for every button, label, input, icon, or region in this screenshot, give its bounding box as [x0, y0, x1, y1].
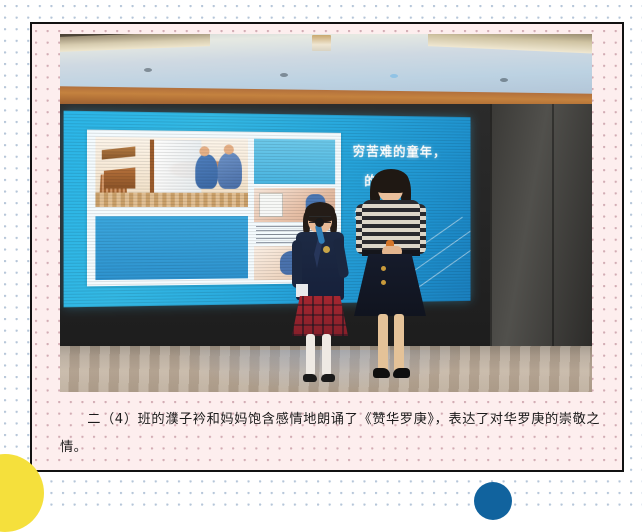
- slide-blue-block-top: [254, 139, 335, 184]
- caption-text: 二（4）班的濮子衿和妈妈饱含感情地朗诵了《赞华罗庚》，表达了对华罗庚的崇敬之情。: [60, 412, 600, 455]
- right-leg: [394, 314, 404, 372]
- downlight-icon: [500, 78, 508, 82]
- ceiling-projector-mount: [312, 35, 331, 51]
- right-shoe: [321, 374, 335, 382]
- girl-student-reciting: [288, 206, 352, 392]
- wall-seam: [490, 104, 492, 349]
- blue-circle-decoration: [474, 482, 512, 520]
- illustration-figure-child: [195, 154, 217, 189]
- stage-recitation-photo: 穷苦难的童年， 的学习， 不灭的决心！: [60, 34, 592, 392]
- left-shoe: [303, 374, 317, 382]
- downlight-icon: [390, 74, 398, 78]
- left-shoe: [373, 368, 390, 378]
- woman-parent-reciting: [354, 174, 426, 392]
- led-headline-line-1: 穷苦难的童年，: [353, 141, 447, 161]
- skirt-button: [381, 266, 386, 271]
- back-wall-right-panel: [490, 104, 592, 349]
- caption-paragraph: 二（4）班的濮子衿和妈妈饱含感情地朗诵了《赞华罗庚》，表达了对华罗庚的崇敬之情。: [60, 406, 600, 462]
- right-shoe: [393, 368, 410, 378]
- illustration-figure-adult: [218, 152, 242, 188]
- page-background: 穷苦难的童年， 的学习， 不灭的决心！: [0, 0, 642, 507]
- left-arm: [292, 240, 302, 288]
- illustration-shelf: [102, 143, 136, 160]
- illustration-figure-head: [224, 144, 234, 154]
- slide-illustration: [95, 137, 248, 207]
- paper-sheet: [296, 284, 308, 297]
- illustration-table: [104, 166, 135, 189]
- school-badge: [323, 246, 330, 253]
- right-leg: [322, 334, 331, 376]
- downlight-icon: [280, 73, 288, 77]
- content-card: 穷苦难的童年， 的学习， 不灭的决心！: [30, 22, 624, 472]
- illustration-floor-mat: [95, 193, 248, 207]
- illustration-curtain: [154, 140, 201, 195]
- left-leg: [306, 334, 315, 376]
- skirt-button: [381, 280, 386, 285]
- navy-skirt: [354, 254, 426, 316]
- slide-blue-block-bottom: [95, 216, 248, 280]
- hair: [373, 169, 409, 193]
- left-leg: [378, 314, 388, 372]
- plaid-skirt: [292, 296, 348, 336]
- illustration-figure-head: [199, 146, 209, 156]
- downlight-icon: [144, 68, 152, 72]
- microphone-head-icon: [315, 218, 324, 227]
- wall-seam: [552, 104, 554, 349]
